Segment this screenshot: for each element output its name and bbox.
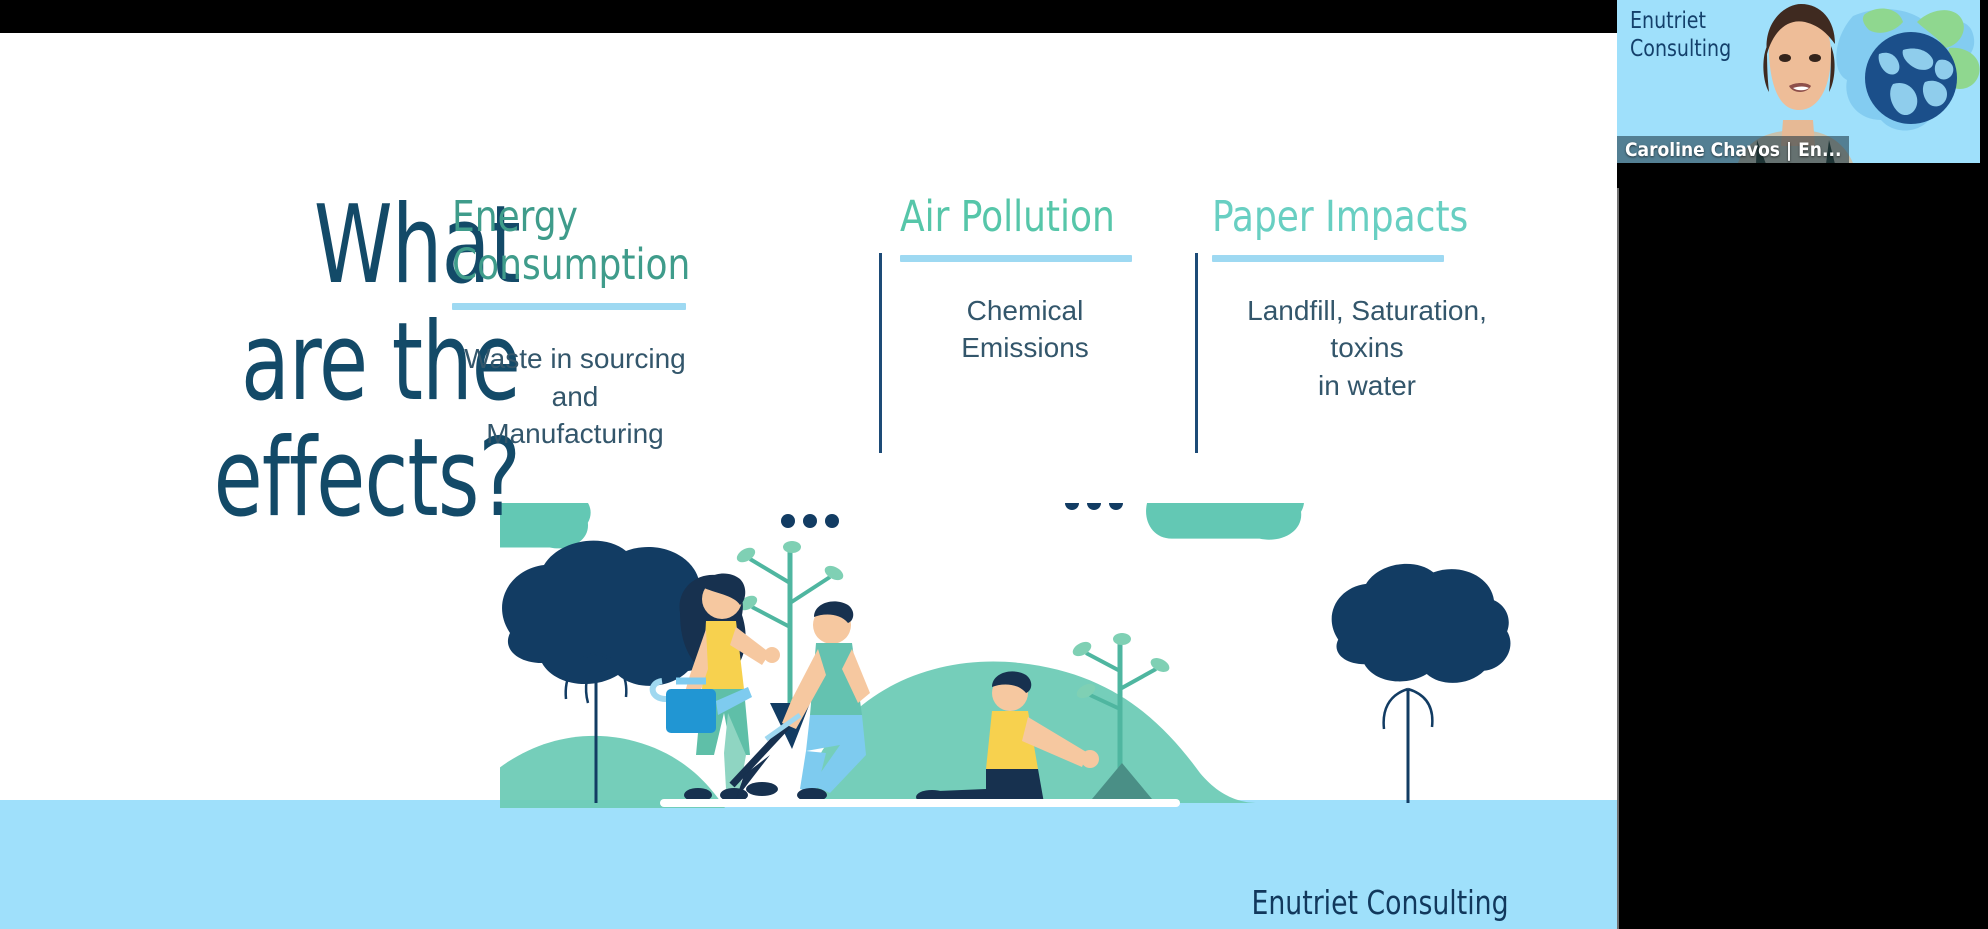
slide-footer-brand: Enutriet Consulting <box>1218 883 1542 922</box>
ellipsis-dots-left <box>781 514 839 528</box>
column-body-text: Waste in sourcing and Manufacturing <box>444 340 706 452</box>
webcam-logo-text: Enutriet Consulting <box>1630 8 1731 63</box>
slide-illustration <box>500 503 1617 903</box>
column-underline <box>1212 255 1444 262</box>
cloud-shape-right <box>1146 503 1304 540</box>
column-underline <box>452 303 686 310</box>
column-body-text: Chemical Emissions <box>900 292 1150 366</box>
column-divider-1 <box>879 253 882 453</box>
navy-tree-right <box>1332 564 1511 803</box>
column-heading: Energy Consumption <box>452 193 683 289</box>
speaker-video-tile[interactable]: Enutriet Consulting Caroline Chavos | En… <box>1617 0 1980 188</box>
participant-name-bar: Caroline Chavos | En... <box>1617 136 1980 163</box>
slide-column-paper-impacts: Paper Impacts Landfill, Saturation, toxi… <box>1212 193 1532 404</box>
ellipsis-dots-right <box>1065 503 1123 510</box>
shared-slide[interactable]: What are the effects? Energy Consumption… <box>0 33 1617 929</box>
participant-name-label: Caroline Chavos | En... <box>1617 139 1841 161</box>
column-divider-2 <box>1195 253 1198 453</box>
slide-column-air-pollution: Air Pollution Chemical Emissions <box>900 193 1150 367</box>
letterbox-top <box>0 0 1617 33</box>
meeting-stage: What are the effects? Energy Consumption… <box>0 0 1988 929</box>
column-body-text: Landfill, Saturation, toxins in water <box>1212 292 1522 404</box>
column-heading: Air Pollution <box>900 193 1133 241</box>
column-heading: Paper Impacts <box>1212 193 1510 241</box>
walkway-strip <box>660 799 1180 807</box>
slide-column-energy-consumption: Energy Consumption Waste in sourcing and… <box>452 193 700 452</box>
webcam-bottom-letterbox <box>1617 163 1980 188</box>
column-underline <box>900 255 1132 262</box>
figure-man-digging <box>732 601 870 802</box>
